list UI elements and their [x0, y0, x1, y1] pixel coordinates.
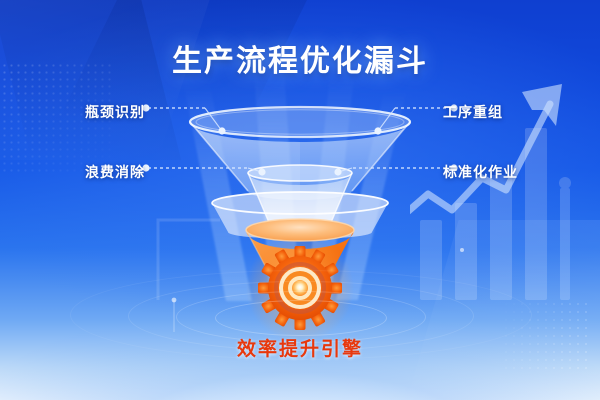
- funnel-outlet-caption: 效率提升引擎: [0, 334, 600, 361]
- funnel-label-left-2: 浪费消除: [85, 162, 145, 182]
- funnel-label-right-2: 标准化作业: [443, 162, 518, 182]
- gear-engine-icon: [246, 234, 354, 342]
- poster-canvas: 生产流程优化漏斗: [0, 0, 600, 400]
- funnel-label-left-1: 瓶颈识别: [85, 102, 145, 122]
- funnel-label-right-1: 工序重组: [443, 102, 503, 122]
